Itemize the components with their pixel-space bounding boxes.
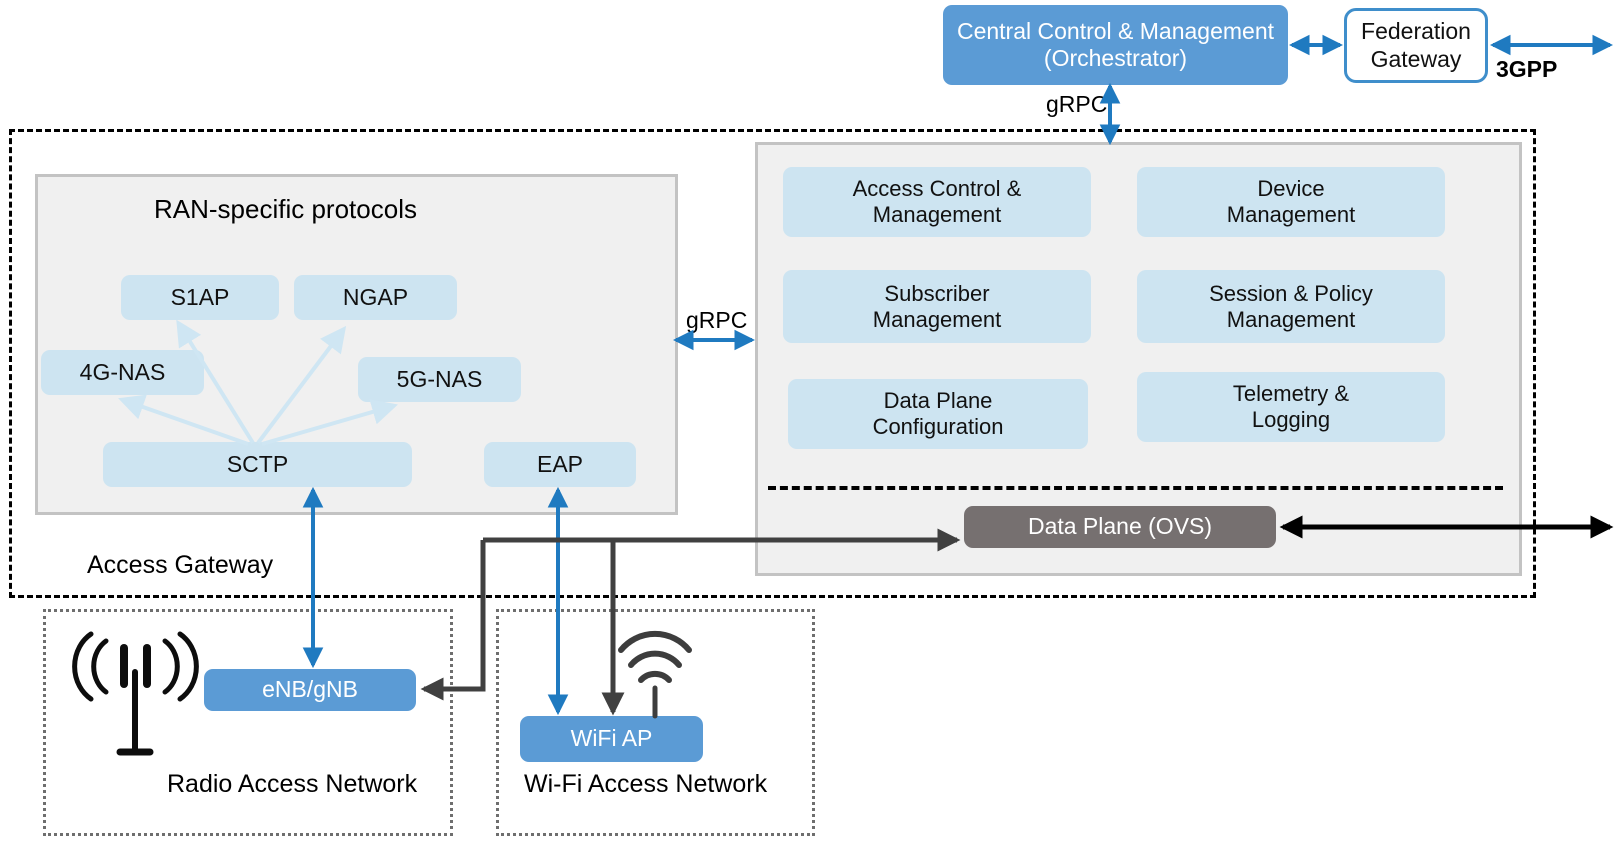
function-label-line2: Configuration <box>873 414 1004 440</box>
protocol-label-ngap: NGAP <box>343 284 408 311</box>
function-box-data-plane-configuration[interactable]: Data Plane Configuration <box>788 379 1088 449</box>
radio-access-network-container <box>43 609 453 836</box>
federation-gateway-box[interactable]: Federation Gateway <box>1344 8 1488 83</box>
function-box-session-policy-management[interactable]: Session & Policy Management <box>1137 270 1445 343</box>
protocol-label-s1ap: S1AP <box>171 284 230 311</box>
function-label-line2: Management <box>873 307 1001 333</box>
protocol-box-4g-nas[interactable]: 4G-NAS <box>41 350 204 395</box>
function-box-access-control-management[interactable]: Access Control & Management <box>783 167 1091 237</box>
orchestrator-label-line2: (Orchestrator) <box>1044 45 1187 72</box>
enb-gnb-box[interactable]: eNB/gNB <box>204 669 416 711</box>
function-label-line1: Subscriber <box>884 281 989 307</box>
wifi-ap-box[interactable]: WiFi AP <box>520 716 703 762</box>
function-label-line1: Session & Policy <box>1209 281 1373 307</box>
protocol-box-eap[interactable]: EAP <box>484 442 636 487</box>
access-gateway-label: Access Gateway <box>87 551 273 580</box>
function-label-line1: Data Plane <box>884 388 993 414</box>
function-box-telemetry-logging[interactable]: Telemetry & Logging <box>1137 372 1445 442</box>
protocol-box-ngap[interactable]: NGAP <box>294 275 457 320</box>
protocol-label-sctp: SCTP <box>227 451 288 478</box>
function-label-line2: Logging <box>1252 407 1330 433</box>
protocol-box-sctp[interactable]: SCTP <box>103 442 412 487</box>
grpc-control-label: gRPC <box>686 307 747 334</box>
protocol-label-eap: EAP <box>537 451 583 478</box>
grpc-orchestrator-label: gRPC <box>1046 91 1107 118</box>
federation-gateway-label-line1: Federation <box>1361 18 1471 45</box>
function-label-line1: Telemetry & <box>1233 381 1349 407</box>
function-label-line1: Access Control & <box>853 176 1022 202</box>
ran-protocols-title: RAN-specific protocols <box>154 194 417 225</box>
function-label-line2: Management <box>1227 307 1355 333</box>
architecture-diagram: Central Control & Management (Orchestrat… <box>0 0 1614 842</box>
protocol-box-s1ap[interactable]: S1AP <box>121 275 279 320</box>
protocol-label-5g-nas: 5G-NAS <box>397 366 483 393</box>
function-label-line2: Management <box>873 202 1001 228</box>
protocol-label-4g-nas: 4G-NAS <box>80 359 166 386</box>
function-label-line1: Device <box>1257 176 1324 202</box>
protocol-box-5g-nas[interactable]: 5G-NAS <box>358 357 521 402</box>
orchestrator-box[interactable]: Central Control & Management (Orchestrat… <box>943 5 1288 85</box>
function-box-device-management[interactable]: Device Management <box>1137 167 1445 237</box>
function-label-line2: Management <box>1227 202 1355 228</box>
data-plane-ovs-label: Data Plane (OVS) <box>1028 513 1212 540</box>
control-data-plane-separator <box>768 486 1503 490</box>
data-plane-ovs-box[interactable]: Data Plane (OVS) <box>964 506 1276 548</box>
orchestrator-label-line1: Central Control & Management <box>957 18 1274 45</box>
federation-gateway-label-line2: Gateway <box>1371 46 1462 73</box>
wifi-ap-label: WiFi AP <box>571 725 653 752</box>
radio-access-network-caption: Radio Access Network <box>167 770 417 799</box>
wifi-access-network-caption: Wi-Fi Access Network <box>524 770 767 799</box>
enb-gnb-label: eNB/gNB <box>262 676 358 703</box>
three-gpp-label: 3GPP <box>1496 56 1557 83</box>
function-box-subscriber-management[interactable]: Subscriber Management <box>783 270 1091 343</box>
